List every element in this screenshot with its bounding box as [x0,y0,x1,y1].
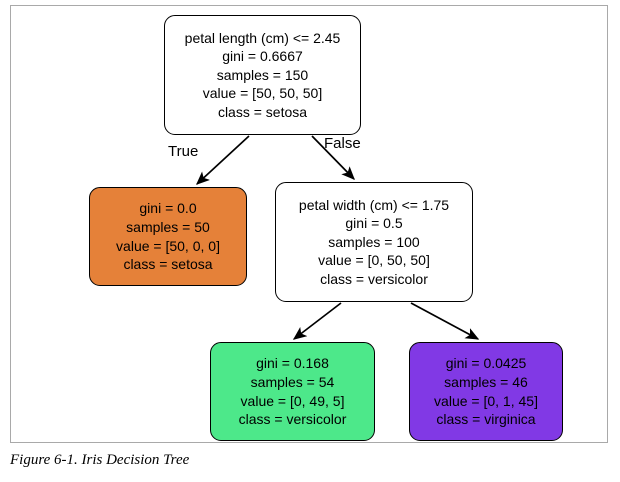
node-class: class = setosa [123,255,212,274]
node-samples: samples = 50 [126,218,210,237]
tree-node-virginica-leaf[interactable]: gini = 0.0425 samples = 46 value = [0, 1… [409,342,563,441]
node-samples: samples = 46 [444,373,528,392]
tree-node-setosa-leaf[interactable]: gini = 0.0 samples = 50 value = [50, 0, … [89,187,247,286]
node-gini: gini = 0.0 [139,199,196,218]
node-samples: samples = 54 [251,373,335,392]
node-class: class = setosa [218,103,307,122]
node-samples: samples = 100 [328,233,419,252]
figure-frame: petal length (cm) <= 2.45 gini = 0.6667 … [10,5,608,443]
edge-petal-width-to-versicolor [294,303,341,339]
node-class: class = virginica [436,410,535,429]
edge-label-true: True [168,143,198,160]
node-class: class = versicolor [320,270,428,289]
decision-tree-diagram: petal length (cm) <= 2.45 gini = 0.6667 … [11,6,609,444]
node-gini: gini = 0.0425 [446,354,527,373]
node-value: value = [50, 0, 0] [116,237,220,256]
edge-label-false: False [324,135,361,152]
edge-root-to-setosa [197,136,249,184]
node-samples: samples = 150 [217,66,308,85]
node-value: value = [50, 50, 50] [203,84,322,103]
tree-node-versicolor-leaf[interactable]: gini = 0.168 samples = 54 value = [0, 49… [210,342,375,441]
figure-caption: Figure 6-1. Iris Decision Tree [10,452,189,469]
node-condition: petal length (cm) <= 2.45 [185,29,341,48]
node-value: value = [0, 49, 5] [241,392,345,411]
node-class: class = versicolor [239,410,347,429]
tree-node-petal-width[interactable]: petal width (cm) <= 1.75 gini = 0.5 samp… [275,182,473,302]
node-condition: petal width (cm) <= 1.75 [299,196,449,215]
node-value: value = [0, 1, 45] [434,392,538,411]
tree-node-root[interactable]: petal length (cm) <= 2.45 gini = 0.6667 … [164,15,361,135]
edge-petal-width-to-virginica [411,303,478,339]
node-value: value = [0, 50, 50] [318,251,430,270]
node-gini: gini = 0.6667 [222,47,303,66]
node-gini: gini = 0.5 [345,214,402,233]
node-gini: gini = 0.168 [256,354,329,373]
